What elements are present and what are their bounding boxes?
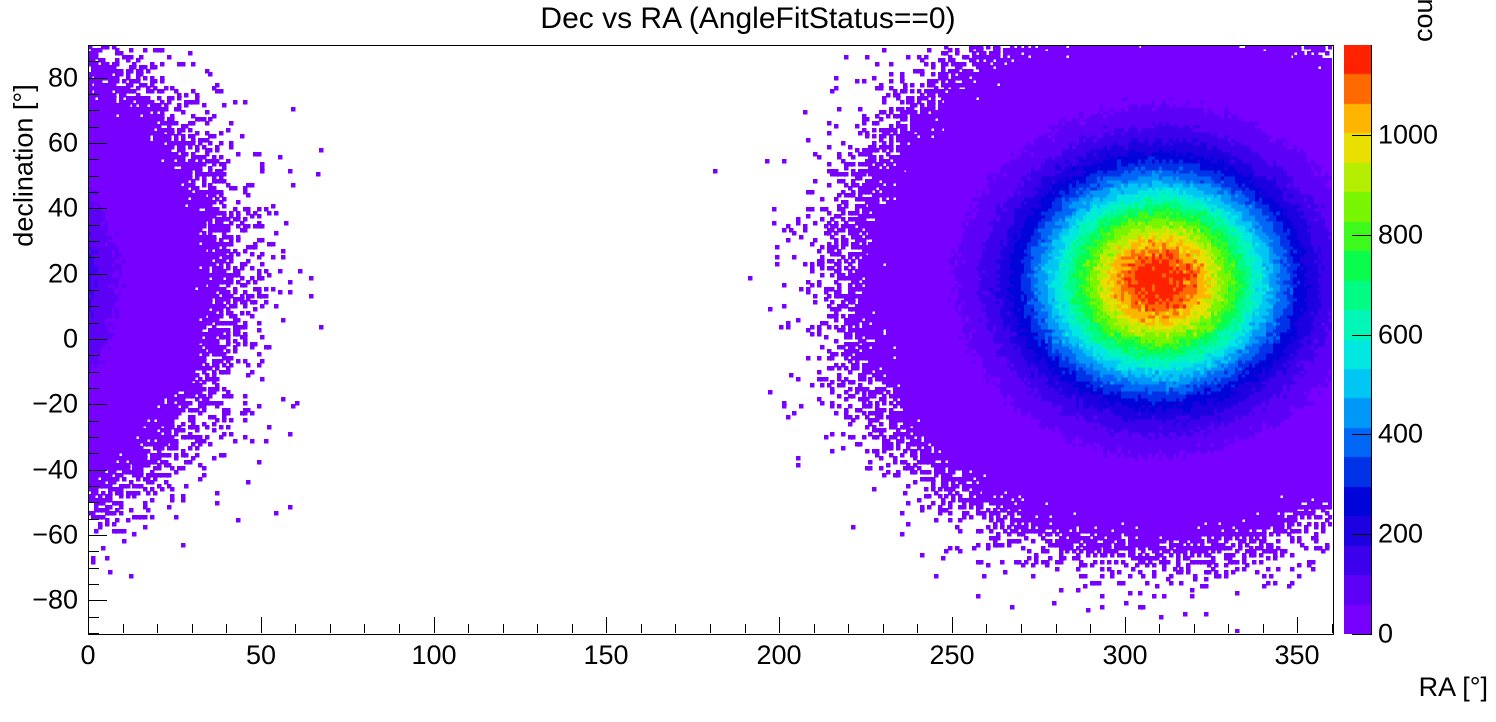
- colorbar-tick-label: 200: [1378, 519, 1423, 550]
- x-minor-tick: [986, 624, 987, 633]
- x-major-tick: [606, 617, 607, 633]
- y-major-tick: [89, 600, 107, 601]
- x-minor-tick: [157, 624, 158, 633]
- y-minor-tick: [89, 257, 99, 258]
- y-minor-tick: [89, 437, 99, 438]
- x-major-tick: [779, 617, 780, 633]
- colorbar-axis-line: [1371, 45, 1372, 635]
- colorbar-tick: [1352, 534, 1371, 535]
- x-tick-label: 350: [1274, 640, 1319, 671]
- y-minor-tick: [89, 323, 99, 324]
- x-minor-tick: [399, 624, 400, 633]
- colorbar-tick-label: 1000: [1378, 120, 1438, 151]
- x-tick-label: 150: [583, 640, 628, 671]
- x-minor-tick: [675, 624, 676, 633]
- colorbar: [1344, 45, 1371, 634]
- x-major-tick: [952, 617, 953, 633]
- x-minor-tick: [364, 624, 365, 633]
- colorbar-tick: [1352, 235, 1371, 236]
- y-minor-tick: [89, 551, 99, 552]
- x-minor-tick: [123, 624, 124, 633]
- x-minor-tick: [1056, 624, 1057, 633]
- x-tick-label: 250: [929, 640, 974, 671]
- colorbar-tick: [1352, 335, 1371, 336]
- y-minor-tick: [89, 617, 99, 618]
- colorbar-tick: [1352, 434, 1371, 435]
- colorbar-tick: [1352, 634, 1371, 635]
- y-minor-tick: [89, 306, 99, 307]
- x-major-tick: [261, 617, 262, 633]
- y-minor-tick: [89, 519, 99, 520]
- page-title: Dec vs RA (AngleFitStatus==0): [0, 2, 1496, 36]
- y-minor-tick: [89, 486, 99, 487]
- x-major-tick: [88, 617, 89, 633]
- x-minor-tick: [537, 624, 538, 633]
- y-major-tick: [89, 404, 107, 405]
- y-major-tick: [89, 274, 107, 275]
- y-minor-tick: [89, 176, 99, 177]
- y-tick-label: −40: [32, 455, 78, 486]
- y-minor-tick: [89, 584, 99, 585]
- x-minor-tick: [814, 624, 815, 633]
- y-minor-tick: [89, 192, 99, 193]
- y-axis-title: declination [°]: [9, 76, 40, 256]
- x-minor-tick: [1263, 624, 1264, 633]
- x-minor-tick: [572, 624, 573, 633]
- x-minor-tick: [848, 624, 849, 633]
- y-tick-label: 80: [48, 63, 78, 94]
- x-minor-tick: [468, 624, 469, 633]
- x-minor-tick: [1228, 624, 1229, 633]
- y-tick-label: −20: [32, 389, 78, 420]
- colorbar-tick-label: 400: [1378, 419, 1423, 450]
- y-minor-tick: [89, 633, 99, 634]
- y-major-tick: [89, 143, 107, 144]
- x-major-tick: [1297, 617, 1298, 633]
- x-minor-tick: [503, 624, 504, 633]
- x-minor-tick: [1194, 624, 1195, 633]
- y-minor-tick: [89, 241, 99, 242]
- x-tick-label: 300: [1102, 640, 1147, 671]
- y-minor-tick: [89, 568, 99, 569]
- x-major-tick: [1125, 617, 1126, 633]
- x-minor-tick: [883, 624, 884, 633]
- y-minor-tick: [89, 388, 99, 389]
- y-tick-label: 20: [48, 259, 78, 290]
- y-minor-tick: [89, 127, 99, 128]
- y-minor-tick: [89, 61, 99, 62]
- x-minor-tick: [917, 624, 918, 633]
- x-minor-tick: [295, 624, 296, 633]
- y-major-tick: [89, 470, 107, 471]
- x-minor-tick: [330, 624, 331, 633]
- x-minor-tick: [1332, 624, 1333, 633]
- y-minor-tick: [89, 372, 99, 373]
- x-tick-label: 50: [246, 640, 276, 671]
- y-minor-tick: [89, 225, 99, 226]
- y-tick-label: 40: [48, 193, 78, 224]
- colorbar-tick: [1352, 135, 1371, 136]
- colorbar-tick-label: 600: [1378, 320, 1423, 351]
- y-tick-label: −60: [32, 520, 78, 551]
- x-minor-tick: [1021, 624, 1022, 633]
- colorbar-tick-label: 0: [1378, 619, 1393, 650]
- x-minor-tick: [1090, 624, 1091, 633]
- x-minor-tick: [192, 624, 193, 633]
- x-major-tick: [434, 617, 435, 633]
- x-minor-tick: [226, 624, 227, 633]
- y-tick-label: 0: [63, 324, 78, 355]
- x-axis-title: RA [°]: [1419, 672, 1488, 703]
- y-minor-tick: [89, 159, 99, 160]
- y-minor-tick: [89, 421, 99, 422]
- x-minor-tick: [710, 624, 711, 633]
- y-minor-tick: [89, 110, 99, 111]
- y-tick-label: −80: [32, 585, 78, 616]
- y-minor-tick: [89, 94, 99, 95]
- y-minor-tick: [89, 290, 99, 291]
- y-tick-label: 60: [48, 128, 78, 159]
- y-minor-tick: [89, 502, 99, 503]
- x-minor-tick: [641, 624, 642, 633]
- x-minor-tick: [745, 624, 746, 633]
- y-minor-tick: [89, 355, 99, 356]
- x-tick-label: 200: [756, 640, 801, 671]
- chart-root: Dec vs RA (AngleFitStatus==0) 0501001502…: [0, 0, 1496, 722]
- colorbar-tick-label: 800: [1378, 220, 1423, 251]
- x-tick-label: 0: [80, 640, 95, 671]
- y-major-tick: [89, 78, 107, 79]
- colorbar-title: count: [1408, 0, 1439, 42]
- y-minor-tick: [89, 45, 99, 46]
- x-minor-tick: [1159, 624, 1160, 633]
- y-major-tick: [89, 339, 107, 340]
- histogram-canvas: [88, 45, 1332, 633]
- colorbar-gradient: [1344, 45, 1371, 634]
- y-major-tick: [89, 208, 107, 209]
- y-major-tick: [89, 535, 107, 536]
- y-minor-tick: [89, 453, 99, 454]
- x-tick-label: 100: [411, 640, 456, 671]
